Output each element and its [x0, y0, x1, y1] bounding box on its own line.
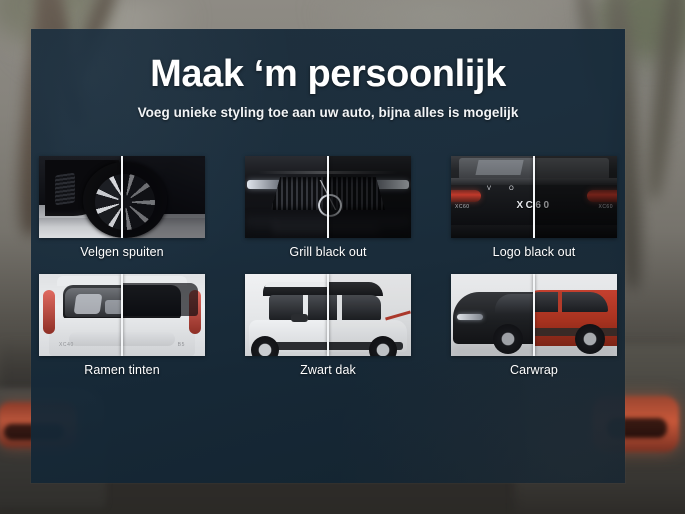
- before-after-divider: [121, 274, 123, 356]
- option-card-zwart-dak[interactable]: Zwart dak: [245, 274, 411, 377]
- black-roof-image: [245, 274, 411, 356]
- carwrap-image: [451, 274, 617, 356]
- option-label: Velgen spuiten: [39, 245, 205, 259]
- option-card-ramen-tinten[interactable]: XC40 B5 Ramen tinten: [39, 274, 205, 377]
- grill-image: [245, 156, 411, 238]
- option-card-logo-black-out[interactable]: V O XC60 XC60 XC60 Logo black out: [451, 156, 617, 259]
- option-label: Carwrap: [451, 363, 617, 377]
- badge-small-left: XC40: [59, 342, 74, 348]
- rear-badge-image: V O XC60 XC60 XC60: [451, 156, 617, 238]
- option-label: Logo black out: [451, 245, 617, 259]
- wordmark-letter-left: V: [487, 186, 492, 192]
- before-after-divider: [121, 156, 123, 238]
- option-card-carwrap[interactable]: Carwrap: [451, 274, 617, 377]
- before-after-divider: [327, 156, 329, 238]
- promo-panel: Maak ‘m persoonlijk Voeg unieke styling …: [31, 29, 625, 483]
- option-label: Ramen tinten: [39, 363, 205, 377]
- option-label: Grill black out: [245, 245, 411, 259]
- before-after-divider: [327, 274, 329, 356]
- before-after-divider: [533, 274, 535, 356]
- option-card-velgen-spuiten[interactable]: Velgen spuiten: [39, 156, 205, 259]
- page-subtitle: Voeg unieke styling toe aan uw auto, bij…: [31, 105, 625, 120]
- tinted-windows-image: XC40 B5: [39, 274, 205, 356]
- badge-small-left: XC60: [455, 204, 470, 210]
- page-title: Maak ‘m persoonlijk: [31, 29, 625, 95]
- wheel-image: [39, 156, 205, 238]
- badge-small-right: B5: [178, 342, 185, 348]
- wordmark-letter-right: O: [509, 186, 515, 192]
- before-after-divider: [533, 156, 535, 238]
- option-label: Zwart dak: [245, 363, 411, 377]
- option-card-grill-black-out[interactable]: Grill black out: [245, 156, 411, 259]
- styling-options-grid: Velgen spuiten Grill black out: [44, 156, 612, 377]
